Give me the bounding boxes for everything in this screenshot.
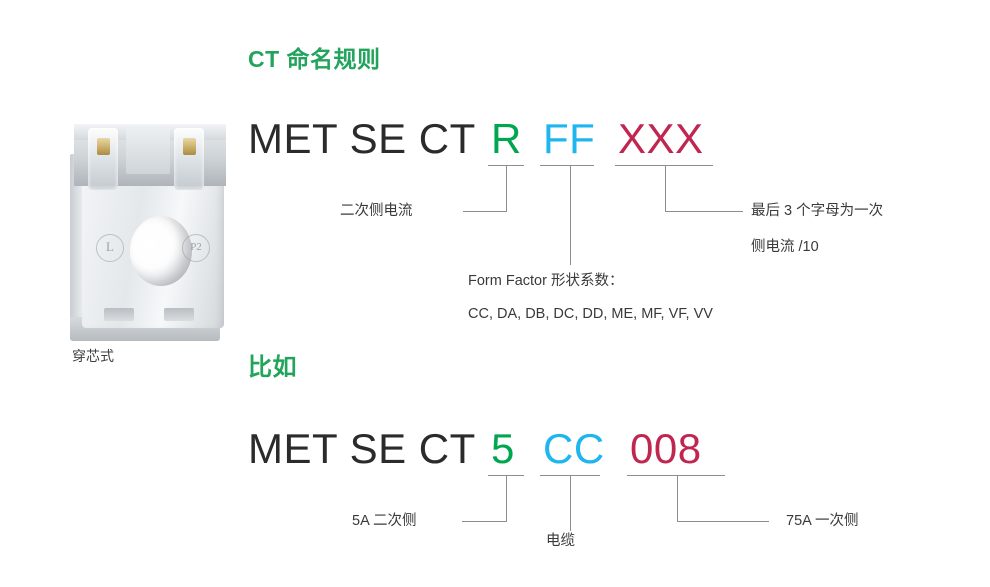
page-title: CT 命名规则 [248, 40, 381, 74]
ct-terminal-screw-right [183, 138, 196, 155]
rule-leader-stem-formfactor [570, 165, 571, 265]
label-secondary-current: 二次侧电流 [340, 198, 413, 224]
example-code-prefix: MET SE CT [248, 428, 476, 470]
example-leader-stem-formfactor [570, 475, 571, 531]
rule-leader-arm-primary [665, 211, 743, 212]
example-leader-underline-primary [627, 475, 725, 476]
label-primary-line1: 最后 3 个字母为一次 [751, 198, 883, 224]
ct-base-slot-2 [164, 308, 194, 321]
example-heading: 比如 [248, 347, 297, 382]
rule-code-primary: XXX [618, 118, 704, 160]
ct-terminal-center [126, 126, 170, 174]
example-leader-arm-primary [677, 521, 769, 522]
product-figure: L P2 穿芯式 [52, 112, 248, 370]
example-leader-stem-primary [677, 475, 678, 521]
rule-leader-underline-formfactor [540, 165, 594, 166]
example-leader-arm-secondary [462, 521, 507, 522]
ct-marking-p1: L [96, 234, 124, 262]
product-caption: 穿芯式 [72, 346, 114, 366]
rule-leader-underline-primary [615, 165, 713, 166]
example-code-formfactor: CC [543, 428, 605, 470]
example-leader-stem-secondary [506, 475, 507, 521]
ct-marking-p2: P2 [182, 234, 210, 262]
label-example-formfactor: 电缆 [546, 528, 575, 554]
rule-leader-arm-secondary [463, 211, 507, 212]
ct-naming-rule-page: { "page": { "title": "CT 命名规则", "example… [0, 0, 990, 587]
ct-base-slot-1 [104, 308, 134, 321]
current-transformer-image: L P2 [52, 112, 248, 340]
rule-leader-stem-primary [665, 165, 666, 211]
rule-code-secondary: R [491, 118, 522, 160]
example-code-primary: 008 [630, 428, 702, 470]
rule-leader-stem-secondary [506, 165, 507, 211]
label-primary-line2: 侧电流 /10 [751, 234, 819, 260]
label-form-factor-values: CC, DA, DB, DC, DD, ME, MF, VF, VV [468, 301, 713, 327]
rule-code-prefix: MET SE CT [248, 118, 476, 160]
ct-terminal-screw-left [97, 138, 110, 155]
label-example-primary: 75A 一次侧 [786, 508, 859, 534]
ct-body: L P2 [82, 178, 224, 328]
label-form-factor-title: Form Factor 形状系数： [468, 268, 623, 294]
rule-code-formfactor: FF [543, 118, 595, 160]
label-example-secondary: 5A 二次侧 [352, 508, 416, 534]
example-code-secondary: 5 [491, 428, 515, 470]
